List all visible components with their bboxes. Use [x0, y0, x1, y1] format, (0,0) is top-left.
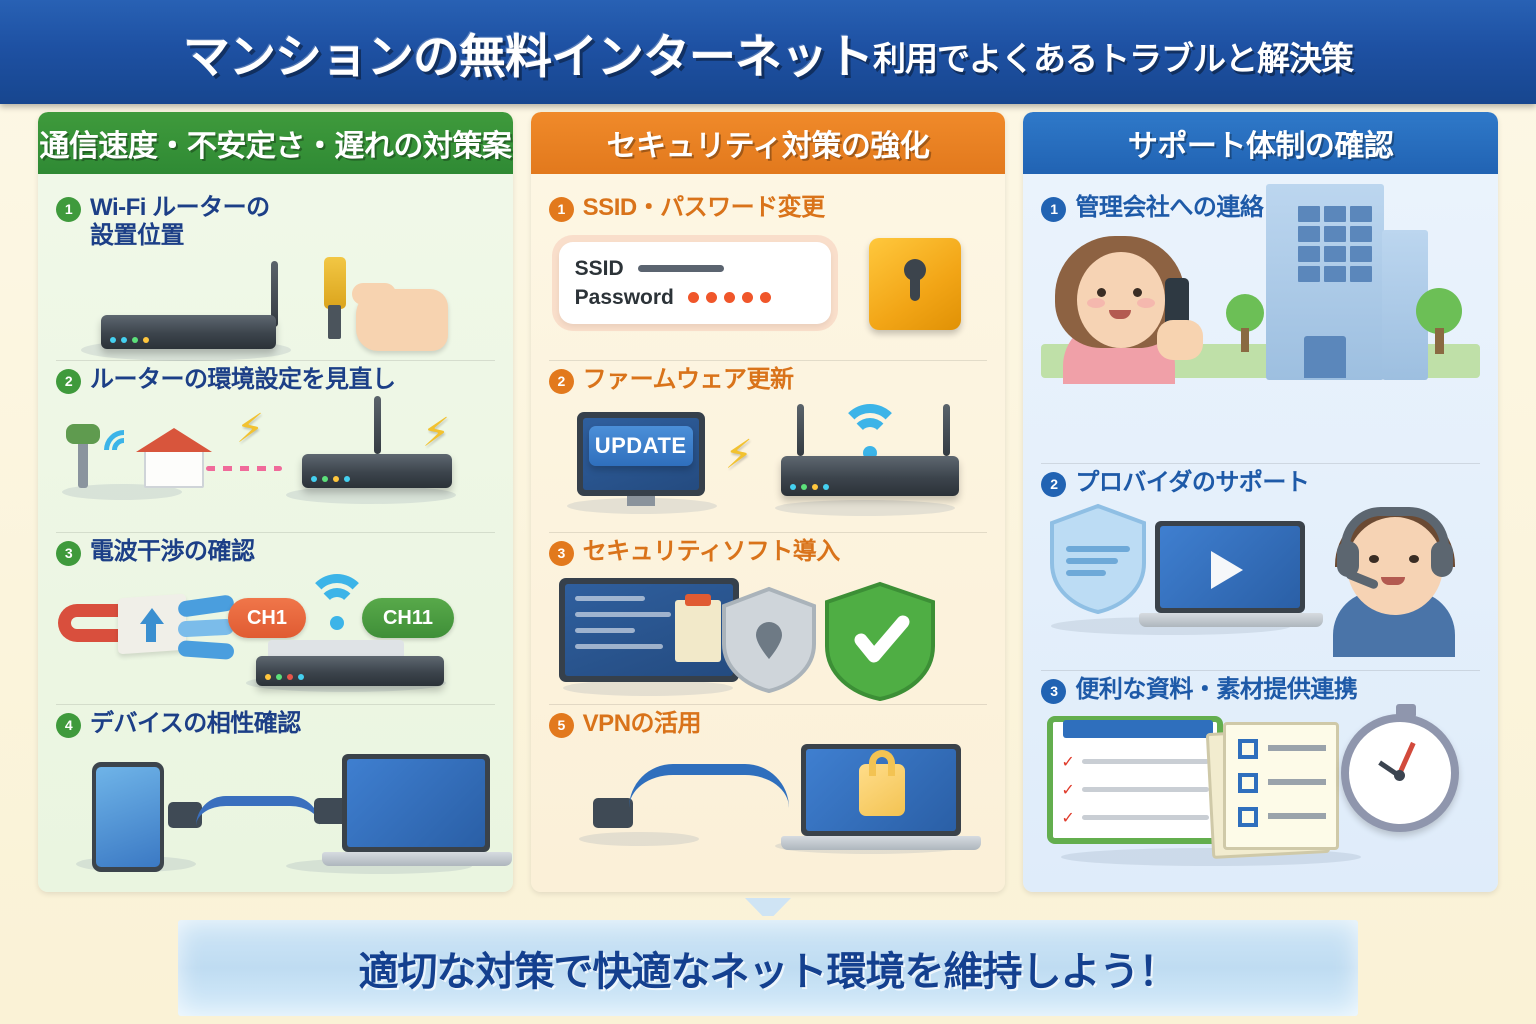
item-number: 2: [549, 369, 574, 394]
play-icon: [1211, 551, 1243, 589]
shield-green-icon: [821, 580, 939, 702]
column-body-speed: 1 Wi-Fi ルーターの 設置位置: [38, 174, 513, 892]
item-number: 1: [1041, 197, 1066, 222]
footer-pointer: [745, 898, 791, 916]
list-item[interactable]: 2 ルーターの環境設定を見直し: [56, 360, 495, 532]
item-label: Wi-Fi ルーターの 設置位置: [90, 194, 270, 251]
item-number: 5: [549, 713, 574, 738]
item-number: 1: [56, 197, 81, 222]
item-title: 1 管理会社への連絡: [1041, 194, 1480, 222]
list-item[interactable]: 1 管理会社への連絡: [1041, 188, 1480, 463]
art-router-placement: [56, 253, 495, 356]
page-subtitle: 利用でよくあるトラブルと解決策: [873, 32, 1353, 80]
channel-chip-low: CH1: [228, 598, 306, 638]
house-icon: [144, 448, 204, 488]
item-title: 1 SSID・パスワード変更: [549, 194, 988, 222]
list-item[interactable]: 3 セキュリティソフト導入: [549, 532, 988, 704]
item-number: 4: [56, 713, 81, 738]
item-title: 3 セキュリティソフト導入: [549, 538, 988, 566]
password-dots: [688, 292, 771, 303]
column-security: セキュリティ対策の強化 1 SSID・パスワード変更 SSID: [531, 112, 1006, 892]
item-title: 1 Wi-Fi ルーターの 設置位置: [56, 194, 495, 251]
list-item[interactable]: 1 Wi-Fi ルーターの 設置位置: [56, 188, 495, 360]
art-contact-management: [1041, 224, 1480, 459]
column-heading-speed: 通信速度・不安定さ・遅れの対策案: [38, 112, 513, 174]
item-label: 便利な資料・素材提供連携: [1075, 676, 1357, 704]
ssid-row: SSID: [575, 257, 815, 281]
list-item[interactable]: 4 デバイスの相性確認: [56, 704, 495, 876]
art-provider-support: [1041, 499, 1480, 665]
page-title-bar: マンションの無料インターネット 利用でよくあるトラブルと解決策: [0, 0, 1536, 104]
column-support: サポート体制の確認 1 管理会社への連絡: [1023, 112, 1498, 892]
art-security-software: [549, 568, 988, 700]
art-firmware-update: UPDATE ⚡: [549, 396, 988, 528]
item-title: 5 VPNの活用: [549, 710, 988, 738]
art-device-compatibility: [56, 740, 495, 872]
item-number: 3: [1041, 679, 1066, 704]
column-body-security: 1 SSID・パスワード変更 SSID Password: [531, 174, 1006, 892]
ssid-label: SSID: [575, 257, 624, 281]
item-label: 電波干渉の確認: [90, 538, 255, 566]
shield-gray-icon: [719, 586, 819, 694]
item-title: 2 ファームウェア更新: [549, 366, 988, 394]
page-title: マンションの無料インターネット: [183, 18, 873, 87]
laptop-icon: [342, 754, 490, 852]
list-item[interactable]: 3 便利な資料・素材提供連携 ✓ ✓ ✓: [1041, 670, 1480, 876]
credentials-panel: SSID Password: [559, 242, 831, 324]
password-row: Password: [575, 286, 815, 310]
item-title: 2 プロバイダのサポート: [1041, 469, 1480, 497]
smartphone-icon: [92, 762, 164, 872]
footer-banner: 適切な対策で快適なネット環境を維持しよう！: [178, 920, 1358, 1016]
item-title: 3 便利な資料・素材提供連携: [1041, 676, 1480, 704]
password-label: Password: [575, 286, 674, 310]
infographic-root: マンションの無料インターネット 利用でよくあるトラブルと解決策 通信速度・不安定…: [0, 0, 1536, 1024]
list-item[interactable]: 5 VPNの活用: [549, 704, 988, 876]
checklist-icon: ✓ ✓ ✓: [1047, 716, 1223, 844]
list-item[interactable]: 1 SSID・パスワード変更 SSID Password: [549, 188, 988, 360]
item-label: セキュリティソフト導入: [583, 538, 840, 566]
lock-icon: [869, 238, 961, 330]
router-icon: [101, 315, 276, 349]
item-label: VPNの活用: [583, 710, 701, 738]
item-title: 2 ルーターの環境設定を見直し: [56, 366, 495, 394]
column-heading-security: セキュリティ対策の強化: [531, 112, 1006, 174]
monitor-icon: [559, 578, 739, 682]
cable-connector-icon: [593, 798, 633, 828]
item-label: 管理会社への連絡: [1075, 194, 1263, 222]
shield-blue-icon: [1047, 503, 1149, 615]
art-channel-interference: CH1 CH11: [56, 568, 495, 700]
art-vpn: [549, 740, 988, 872]
column-speed: 通信速度・不安定さ・遅れの対策案 1 Wi-Fi ルーターの 設置位置: [38, 112, 513, 892]
list-item[interactable]: 2 プロバイダのサポート: [1041, 463, 1480, 669]
list-item[interactable]: 3 電波干渉の確認: [56, 532, 495, 704]
screwdriver-icon: [324, 257, 346, 309]
item-title: 3 電波干渉の確認: [56, 538, 495, 566]
router-icon: [302, 454, 452, 488]
column-heading-support: サポート体制の確認: [1023, 112, 1498, 174]
art-resources-materials: ✓ ✓ ✓: [1041, 706, 1480, 872]
item-number: 3: [56, 541, 81, 566]
update-button[interactable]: UPDATE: [589, 426, 693, 466]
document-front: [1223, 722, 1339, 850]
magnet-icon: [58, 604, 122, 642]
router-icon: [781, 456, 959, 496]
item-number: 3: [549, 541, 574, 566]
router-icon: [256, 656, 444, 686]
item-number: 2: [1041, 472, 1066, 497]
item-label: プロバイダのサポート: [1075, 469, 1309, 497]
art-router-environment: ⚡ ⚡: [56, 396, 495, 528]
footer-banner-wrap: 適切な対策で快適なネット環境を維持しよう！: [0, 898, 1536, 1024]
item-number: 2: [56, 369, 81, 394]
item-label: デバイスの相性確認: [90, 710, 301, 738]
item-label: ファームウェア更新: [583, 366, 794, 394]
item-number: 1: [549, 197, 574, 222]
columns-container: 通信速度・不安定さ・遅れの対策案 1 Wi-Fi ルーターの 設置位置: [0, 112, 1536, 892]
list-item[interactable]: 2 ファームウェア更新 UPDATE ⚡: [549, 360, 988, 532]
channel-chip-high: CH11: [362, 598, 454, 638]
clock-icon: [1341, 714, 1459, 832]
art-ssid-password: SSID Password: [549, 224, 988, 356]
ssid-value-bar: [638, 265, 724, 272]
footer-message: 適切な対策で快適なネット環境を維持しよう！: [359, 939, 1178, 997]
item-label: SSID・パスワード変更: [583, 194, 825, 222]
column-body-support: 1 管理会社への連絡: [1023, 174, 1498, 892]
item-title: 4 デバイスの相性確認: [56, 710, 495, 738]
item-label: ルーターの環境設定を見直し: [90, 366, 396, 394]
